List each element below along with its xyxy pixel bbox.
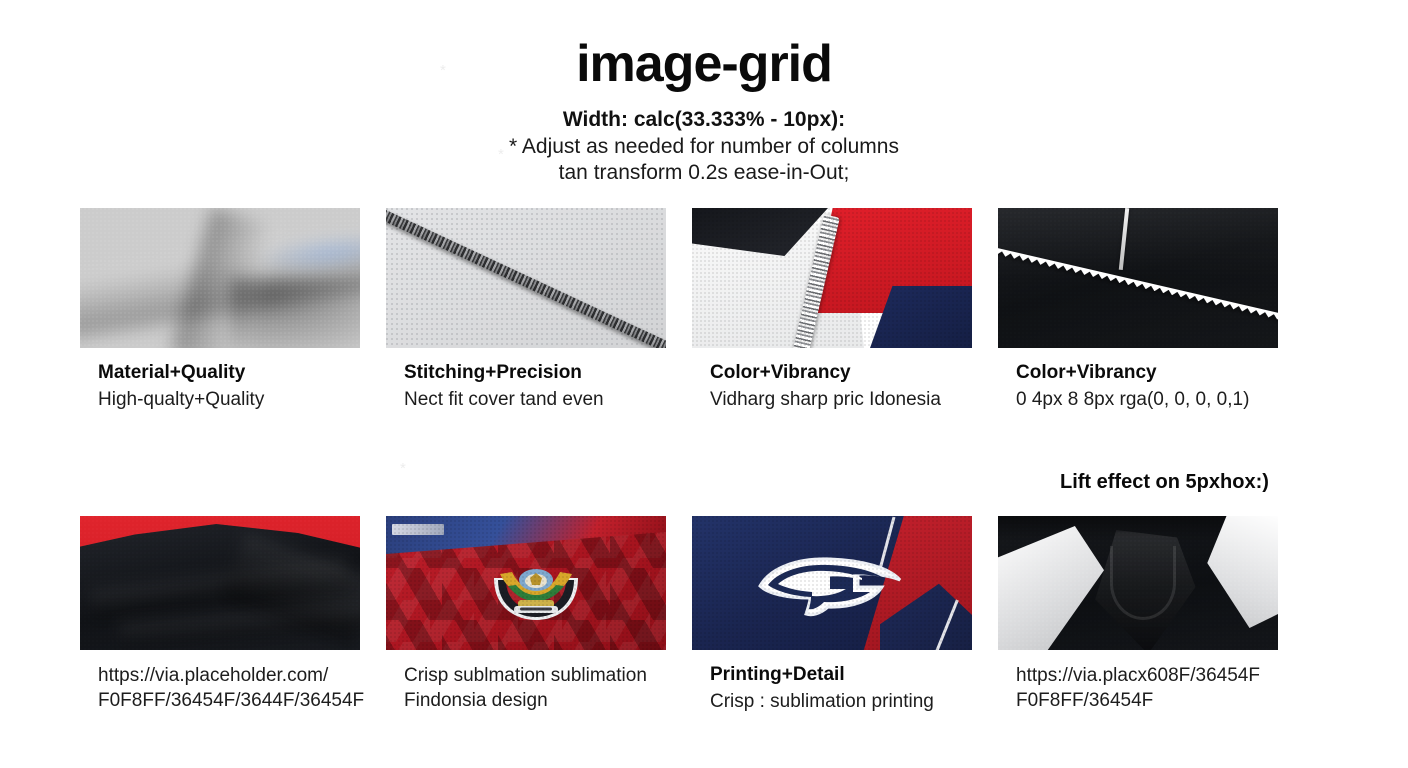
cell-caption: https://via.placx608F/36454F F0F8FF/3645… xyxy=(998,663,1278,713)
red-jersey-emblem-photo[interactable] xyxy=(386,516,666,650)
cell-description: Crisp sublmation sublimation Findonsia d… xyxy=(404,663,666,713)
background-artifact: * xyxy=(400,460,406,477)
cell-caption: https://via.placeholder.com/ F0F8FF/3645… xyxy=(80,663,360,713)
grid-cell[interactable]: https://via.placx608F/36454F F0F8FF/3645… xyxy=(998,516,1278,714)
cell-description: High-qualty+Quality xyxy=(98,387,360,412)
cell-description: Crisp : sublimation printing xyxy=(710,689,972,714)
fabric-mesh-texture xyxy=(692,208,972,348)
fabric-mesh-texture xyxy=(80,208,360,348)
fabric-mesh-texture xyxy=(998,208,1278,348)
cell-caption: Color+Vibrancy Vidharg sharp pric Idones… xyxy=(692,361,972,412)
grid-cell[interactable]: Material+Quality High-qualty+Quality xyxy=(80,208,360,412)
cell-caption: Crisp sublmation sublimation Findonsia d… xyxy=(386,663,666,713)
cell-title: Material+Quality xyxy=(98,361,360,385)
cell-caption: Material+Quality High-qualty+Quality xyxy=(80,361,360,412)
cell-caption: Printing+Detail Crisp : sublimation prin… xyxy=(692,663,972,714)
cell-title: Stitching+Precision xyxy=(404,361,666,385)
cell-description: Nect fit cover tand even xyxy=(404,387,666,412)
blue-fabric-folds-photo[interactable] xyxy=(80,208,360,348)
grid-cell[interactable]: Color+Vibrancy 0 4px 8 8px rga(0, 0, 0, … xyxy=(998,208,1278,412)
fabric-mesh-texture xyxy=(998,516,1278,650)
page-header: image-grid Width: calc(33.333% - 10px): … xyxy=(0,34,1408,186)
cell-description: https://via.placeholder.com/ F0F8FF/3645… xyxy=(98,663,360,713)
fabric-mesh-texture xyxy=(692,516,972,650)
cell-title: Color+Vibrancy xyxy=(710,361,972,385)
grid-cell[interactable]: https://via.placeholder.com/ F0F8FF/3645… xyxy=(80,516,360,714)
black-fabric-over-red-photo[interactable] xyxy=(80,516,360,650)
image-grid-row-2: https://via.placeholder.com/ F0F8FF/3645… xyxy=(80,516,1312,714)
subtitle-transition-note: tan transform 0.2s ease-in-Out; xyxy=(0,160,1408,186)
lift-effect-note: Lift effect on 5pxhox:) xyxy=(1060,471,1269,494)
subtitle-width-rule: Width: calc(33.333% - 10px): xyxy=(0,107,1408,133)
page-title: image-grid xyxy=(0,34,1408,94)
cell-description: Vidharg sharp pric Idonesia xyxy=(710,387,972,412)
cell-title: Printing+Detail xyxy=(710,663,972,687)
fabric-mesh-texture xyxy=(386,516,666,650)
cell-caption: Stitching+Precision Nect fit cover tand … xyxy=(386,361,666,412)
subtitle-adjust-note: * Adjust as needed for number of columns xyxy=(0,134,1408,160)
navy-jersey-logo-photo[interactable] xyxy=(692,516,972,650)
image-grid-page: * * * image-grid Width: calc(33.333% - 1… xyxy=(0,0,1408,768)
cell-description: https://via.placx608F/36454F F0F8FF/3645… xyxy=(1016,663,1278,713)
fabric-mesh-texture xyxy=(80,516,360,650)
black-fabric-white-zigzag-stitch-photo[interactable] xyxy=(998,208,1278,348)
cell-caption: Color+Vibrancy 0 4px 8 8px rga(0, 0, 0, … xyxy=(998,361,1278,412)
cell-title: Color+Vibrancy xyxy=(1016,361,1278,385)
grid-cell[interactable]: Color+Vibrancy Vidharg sharp pric Idones… xyxy=(692,208,972,412)
grid-cell[interactable]: Stitching+Precision Nect fit cover tand … xyxy=(386,208,666,412)
black-white-jersey-collar-photo[interactable] xyxy=(998,516,1278,650)
cell-description: 0 4px 8 8px rga(0, 0, 0, 0,1) xyxy=(1016,387,1278,412)
image-grid-row-1: Material+Quality High-qualty+Quality Sti… xyxy=(80,208,1312,412)
grid-cell[interactable]: Crisp sublmation sublimation Findonsia d… xyxy=(386,516,666,714)
red-white-navy-panel-stitch-photo[interactable] xyxy=(692,208,972,348)
grid-cell[interactable]: Printing+Detail Crisp : sublimation prin… xyxy=(692,516,972,714)
gray-fabric-overlock-stitch-photo[interactable] xyxy=(386,208,666,348)
